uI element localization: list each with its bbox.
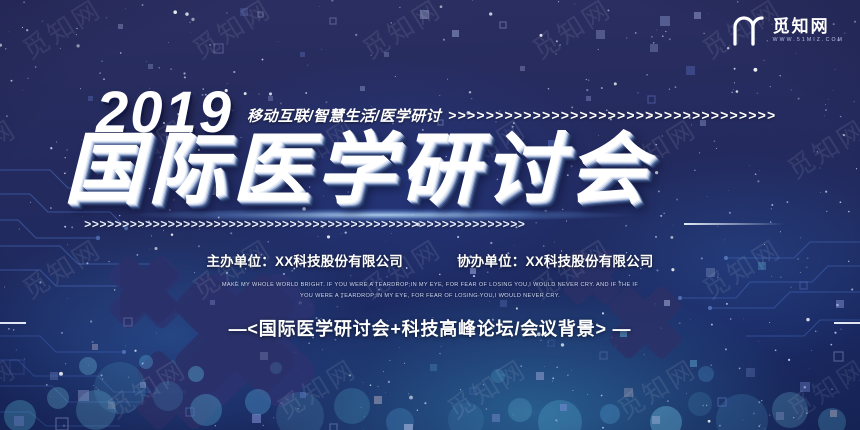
co-host-organization: 协办单位：XX科技股份有限公司 xyxy=(457,250,654,270)
scattered-squares-decoration xyxy=(0,0,860,430)
svg-text:觅知网: 觅知网 xyxy=(18,0,108,66)
host-organization: 主办单位：XX科技股份有限公司 xyxy=(206,250,403,270)
footer-caption: —<国际医学研讨会+科技高峰论坛/会议背景> — xyxy=(0,315,860,341)
svg-text:觅知网: 觅知网 xyxy=(358,0,448,66)
svg-text:觅知网: 觅知网 xyxy=(103,354,193,426)
organizers-row: 主办单位：XX科技股份有限公司 协办单位：XX科技股份有限公司 xyxy=(0,250,860,270)
svg-text:觅知网: 觅知网 xyxy=(528,0,618,66)
svg-text:觅知网: 觅知网 xyxy=(0,114,23,186)
english-line-2: YOU WERE A TEARDROP;IN MY EYE, FOR FEAR … xyxy=(0,291,860,302)
starfield-decoration xyxy=(0,0,860,430)
logo-name: 觅知网 xyxy=(773,18,844,35)
subtitle-row: 移动互联/智慧生活/医学研讨 >>>>>>>>>>>>>>>>>>>>>>>>>… xyxy=(247,104,860,126)
english-line-1: MAKE MY WHOLE WORLD BRIGHT. IF YOU WERE … xyxy=(0,280,860,291)
subtitle-chevrons: >>>>>>>>>>>>>>>>>>>>>>>>>>>>>>>>>>> xyxy=(448,107,860,123)
arch-m-logo-icon xyxy=(732,14,766,46)
svg-text:觅知网: 觅知网 xyxy=(613,354,703,426)
underline-tail xyxy=(684,223,784,225)
english-paragraph: MAKE MY WHOLE WORLD BRIGHT. IF YOU WERE … xyxy=(0,280,860,302)
watermark-pattern: 觅知网觅知网觅知网觅知网觅知网觅知网觅知网觅知网觅知网觅知网觅知网觅知网觅知网觅… xyxy=(0,0,860,430)
page-title: 国际医学研讨会 xyxy=(64,131,652,209)
svg-text:觅知网: 觅知网 xyxy=(188,0,278,66)
vignette-overlay xyxy=(0,0,860,430)
banner-canvas: 觅知网觅知网觅知网觅知网觅知网觅知网觅知网觅知网觅知网觅知网觅知网觅知网觅知网觅… xyxy=(0,0,860,430)
logo-url: WWW.51MIZ.COM xyxy=(773,38,844,43)
subtitle-text: 移动互联/智慧生活/医学研讨 xyxy=(247,105,441,126)
underline-chevrons: >>>>>>>>>>>>>>>>>>>>>>>>>>>>>>>>>>>>>>>>… xyxy=(84,217,680,231)
site-logo[interactable]: 觅知网 WWW.51MIZ.COM xyxy=(732,14,844,46)
svg-text:觅知网: 觅知网 xyxy=(273,354,363,426)
chevron-underline-row: >>>>>>>>>>>>>>>>>>>>>>>>>>>>>>>>>>>>>>>>… xyxy=(84,217,784,231)
svg-text:觅知网: 觅知网 xyxy=(443,354,533,426)
svg-text:觅知网: 觅知网 xyxy=(783,354,860,426)
svg-text:觅知网: 觅知网 xyxy=(0,354,23,426)
